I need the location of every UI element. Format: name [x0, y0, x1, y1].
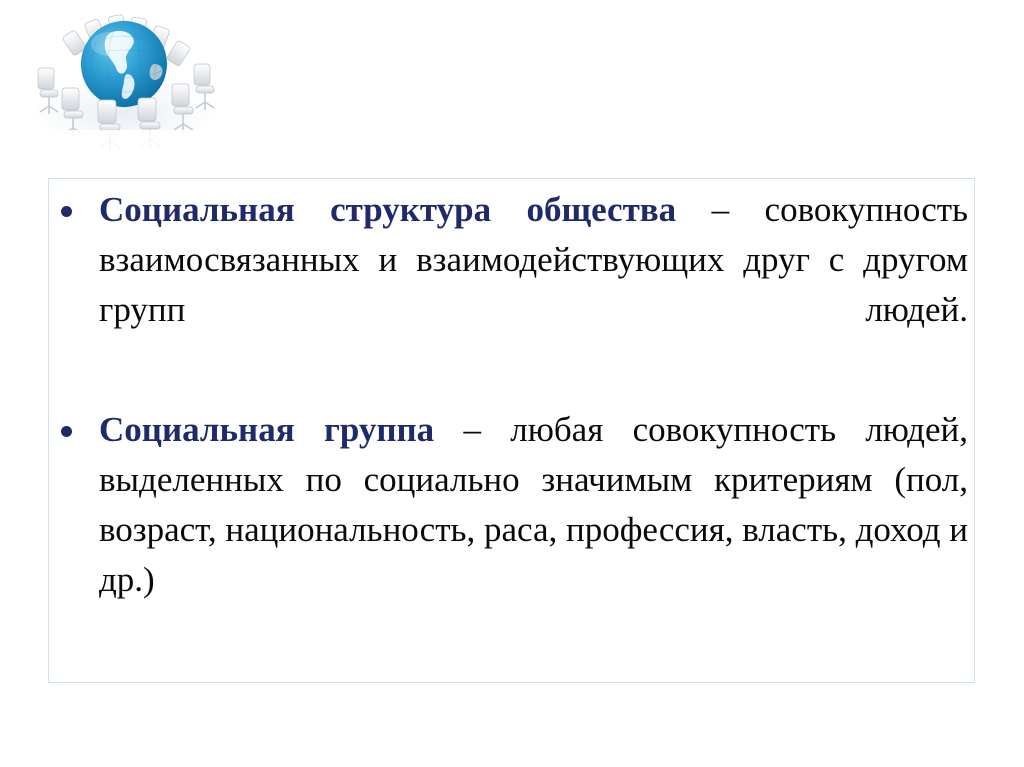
definition-separator: –: [676, 190, 764, 229]
definition-list: Социальная структура общества – совокупн…: [49, 185, 974, 655]
content-box: Социальная структура общества – совокупн…: [48, 178, 975, 683]
definition-separator: –: [434, 410, 510, 449]
list-item: Социальная структура общества – совокупн…: [49, 185, 968, 385]
globe-with-chairs-illustration: [26, 2, 222, 154]
slide: Социальная структура общества – совокупн…: [0, 0, 1024, 767]
bullet-dot-icon: [61, 426, 72, 437]
list-item: Социальная группа – любая совокупность л…: [49, 405, 968, 655]
definition-term: Социальная структура общества: [99, 190, 676, 229]
definition-term: Социальная группа: [99, 410, 434, 449]
bullet-dot-icon: [61, 206, 72, 217]
